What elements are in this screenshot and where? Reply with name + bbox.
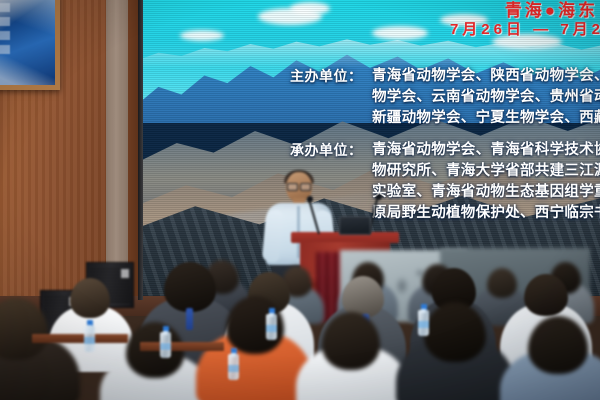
organizer-line: 实验室、青海省动物生态基因组学重 xyxy=(372,182,600,203)
audience-head xyxy=(322,312,380,370)
screen-bezel xyxy=(138,0,143,300)
host-line: 物学会、云南省动物学会、贵州省动 xyxy=(372,87,600,108)
organizer-lines: 青海省动物学会、青海省科学技术协 物研究所、青海大学省部共建三江源 实验室、青海… xyxy=(372,140,600,224)
organizer-label: 承办单位： xyxy=(290,140,363,160)
framed-mountain-artwork xyxy=(0,0,60,90)
audience-table xyxy=(32,334,128,343)
host-line: 青海省动物学会、陕西省动物学会、 xyxy=(372,66,600,87)
bottle-label xyxy=(228,365,239,372)
cloud-shape xyxy=(180,30,224,41)
bottle-label xyxy=(84,337,95,344)
organizer-line: 物研究所、青海大学省部共建三江源 xyxy=(372,161,600,182)
bottle-label xyxy=(266,325,277,332)
bottle-label xyxy=(418,321,429,328)
lanyard xyxy=(186,308,193,330)
audience-seating-area xyxy=(0,258,600,400)
bottle-label xyxy=(160,343,171,350)
audience-head xyxy=(487,268,517,298)
host-line: 新疆动物学会、宁夏生物学会、西藏 xyxy=(372,108,600,129)
banner-dates: 7月26日 — 7月2 xyxy=(450,18,600,39)
audience-head xyxy=(164,262,216,312)
cloud-shape xyxy=(290,2,330,15)
microphone-head-icon xyxy=(307,196,313,202)
organizer-line: 青海省动物学会、青海省科学技术协 xyxy=(372,140,600,161)
microphone-head-icon xyxy=(376,194,382,200)
audience-head xyxy=(0,298,48,360)
artwork-caption-glyphs xyxy=(0,3,12,65)
host-label: 主办单位： xyxy=(290,66,363,86)
organizer-line: 原局野生动植物保护处、西宁临宗书 xyxy=(372,203,600,224)
audience-head xyxy=(524,274,568,316)
audience-table xyxy=(140,342,224,351)
host-lines: 青海省动物学会、陕西省动物学会、 物学会、云南省动物学会、贵州省动 新疆动物学会… xyxy=(372,66,600,129)
audience-head xyxy=(424,302,486,362)
audience-head xyxy=(70,278,110,318)
open-laptop xyxy=(339,216,371,235)
eyeglasses-icon xyxy=(287,183,311,190)
cloud-shape xyxy=(372,26,428,40)
audience-head xyxy=(528,316,588,374)
wall-vertical-strip xyxy=(106,0,128,300)
conference-photo: 青海●海东 7月26日 — 7月2 主办单位： 青海省动物学会、陕西省动物学会、… xyxy=(0,0,600,400)
